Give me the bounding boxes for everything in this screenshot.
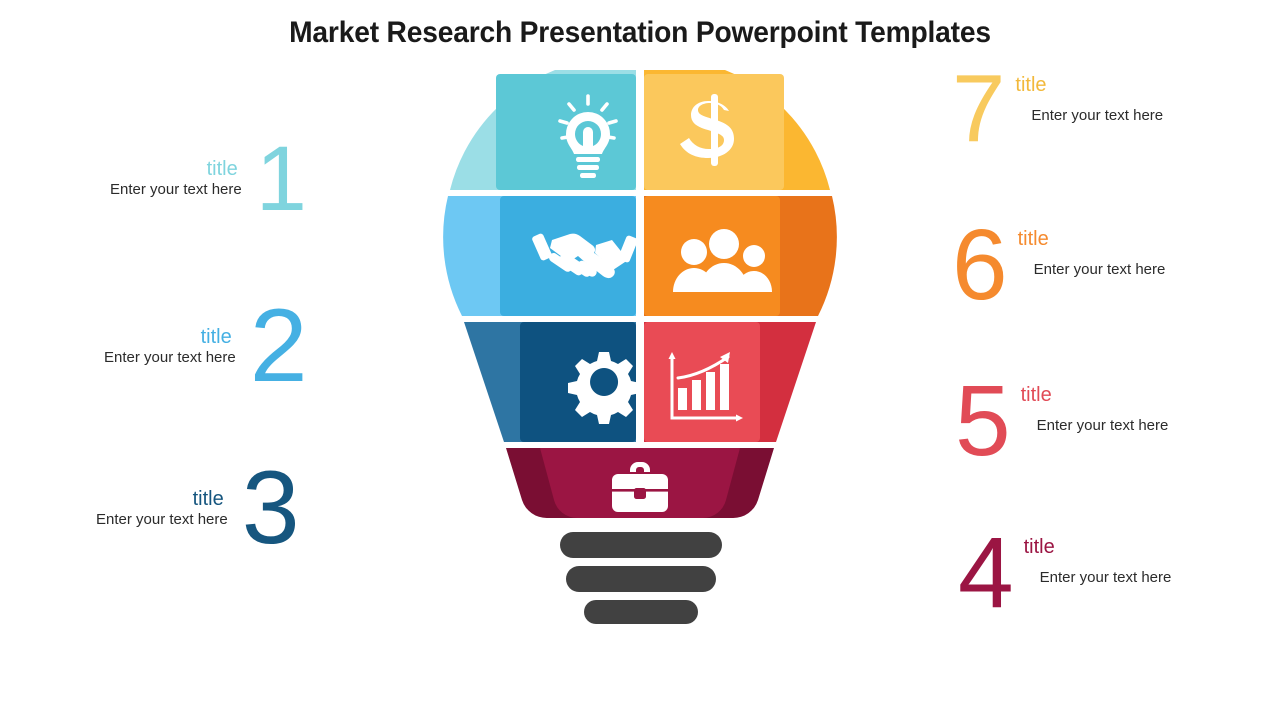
item-6-text: title Enter your text here (1018, 228, 1166, 280)
dollar-segment[interactable] (644, 70, 830, 190)
item-3-description: Enter your text here (96, 510, 228, 530)
item-2-title: title (201, 326, 232, 348)
list-item-7[interactable]: 7 title Enter your text here (952, 68, 1163, 151)
item-1-description: Enter your text here (110, 180, 242, 200)
people-segment[interactable] (644, 196, 837, 316)
page-title: Market Research Presentation Powerpoint … (38, 16, 1241, 50)
item-7-number: 7 (952, 68, 1003, 151)
item-5-description: Enter your text here (1037, 416, 1169, 436)
item-4-description: Enter your text here (1040, 568, 1172, 588)
item-6-title: title (1018, 228, 1049, 250)
lightbulb-segment-inner[interactable] (496, 74, 636, 190)
bar-chart-segment-inner[interactable] (644, 322, 760, 442)
item-1-number: 1 (256, 140, 305, 219)
list-item-5[interactable]: 5 title Enter your text here (955, 378, 1168, 464)
item-6-description: Enter your text here (1034, 260, 1166, 280)
item-1-text: title Enter your text here (110, 158, 242, 200)
list-item-2[interactable]: title Enter your text here 2 (104, 302, 306, 391)
bulb-base-ring-1 (560, 532, 722, 558)
item-5-title: title (1021, 384, 1052, 406)
item-5-text: title Enter your text here (1021, 384, 1169, 436)
list-item-4[interactable]: 4 title Enter your text here (958, 530, 1171, 616)
item-4-text: title Enter your text here (1024, 536, 1172, 588)
gear-segment[interactable] (464, 322, 640, 442)
list-item-6[interactable]: 6 title Enter your text here (952, 222, 1165, 308)
item-7-description: Enter your text here (1031, 106, 1163, 126)
briefcase-segment[interactable] (506, 448, 774, 518)
item-1-title: title (207, 158, 238, 180)
list-item-3[interactable]: title Enter your text here 3 (96, 464, 298, 553)
item-7-text: title Enter your text here (1015, 74, 1163, 126)
item-6-number: 6 (952, 222, 1006, 308)
item-7-title: title (1015, 74, 1046, 96)
lightbulb-segment[interactable] (450, 70, 636, 190)
list-item-1[interactable]: title Enter your text here 1 (110, 140, 305, 219)
item-3-title: title (193, 488, 224, 510)
item-2-number: 2 (250, 302, 306, 391)
item-3-number: 3 (242, 464, 298, 553)
slide-canvas: Market Research Presentation Powerpoint … (0, 0, 1280, 720)
item-2-description: Enter your text here (104, 348, 236, 368)
item-3-text: title Enter your text here (96, 488, 228, 530)
item-4-number: 4 (958, 530, 1012, 616)
bulb-base (560, 532, 722, 624)
item-5-number: 5 (955, 378, 1009, 464)
item-4-title: title (1024, 536, 1055, 558)
item-2-text: title Enter your text here (104, 326, 236, 368)
bulb-base-ring-2 (566, 566, 716, 592)
bar-chart-segment[interactable] (644, 322, 816, 442)
bulb-base-ring-3 (584, 600, 698, 624)
handshake-segment[interactable] (443, 196, 638, 316)
lightbulb-infographic (440, 70, 840, 630)
